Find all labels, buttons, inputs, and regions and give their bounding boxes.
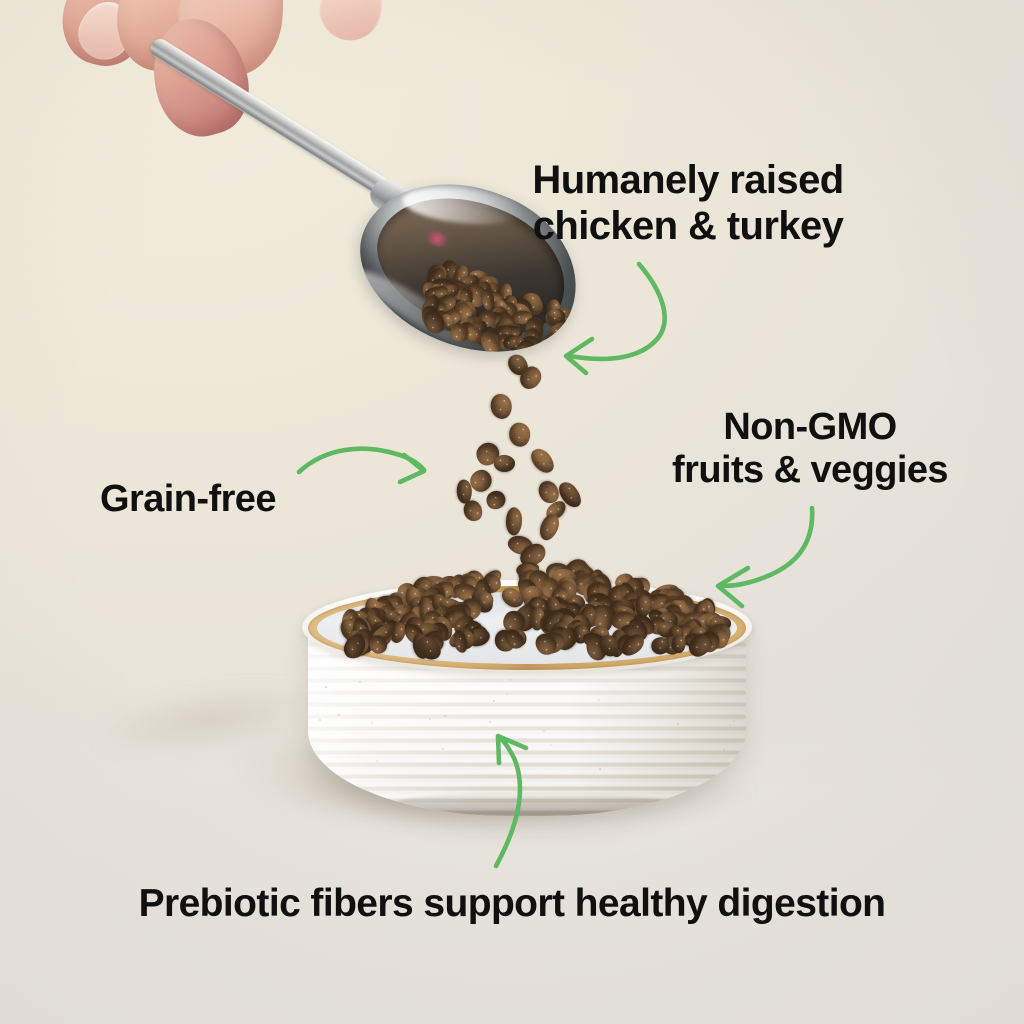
label-prebiotic-fibers: Prebiotic fibers support healthy digesti… [62,882,962,926]
label-humanely-raised-chicken-turkey: Humanely raised chicken & turkey [496,158,880,249]
label-grain-free: Grain-free [100,478,340,521]
kibble-piece [494,455,515,472]
product-callout-image: Humanely raised chicken & turkey Non-GMO… [0,0,1024,1024]
kibble-piece [672,635,686,653]
label-non-gmo-fruits-veggies: Non-GMO fruits & veggies [640,406,980,493]
